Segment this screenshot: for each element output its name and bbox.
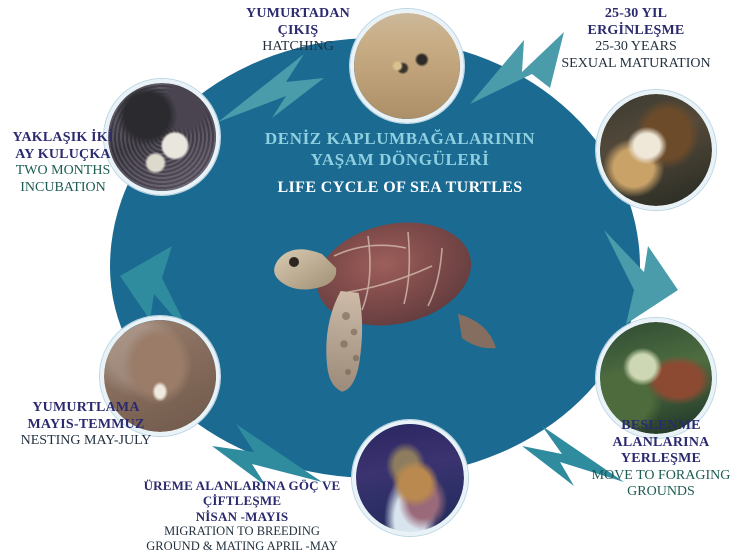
label-incubation: YAKLAŞIK İKİ AY KULUÇKA TWO MONTHS INCUB… [0,130,126,196]
label-hatching-en-1: HATCHING [232,39,364,56]
label-foraging-en-2: GROUNDS [572,484,750,501]
label-foraging-tr-2: YERLEŞME [572,451,750,468]
photo-hatchlings-on-sand [350,9,464,123]
photo-juvenile-turtle [596,90,716,210]
label-nesting: YUMURTLAMA MAYIS-TEMMUZ NESTING MAY-JULY [4,400,168,450]
label-migration-en-2: GROUND & MATING APRIL -MAY [104,539,380,550]
title-english: LIFE CYCLE OF SEA TURTLES [235,179,565,197]
photo-hatchlings-on-sand-image [354,13,460,119]
arrow-incubation-to-hatching [212,52,330,126]
label-foraging: BESLENME ALANLARINA YERLEŞME MOVE TO FOR… [572,418,750,501]
label-migration-en-1: MIGRATION TO BREEDING [104,524,380,539]
label-maturation-tr-1: 25-30 YIL [524,6,748,23]
life-cycle-infographic: DENİZ KAPLUMBAĞALARININ YAŞAM DÖNGÜLERİ … [0,0,750,550]
label-migration-mating: ÜREME ALANLARINA GÖÇ VE ÇİFTLEŞME NİSAN … [104,478,380,550]
label-nesting-tr-2: MAYIS-TEMMUZ [4,417,168,434]
photo-juvenile-turtle-image [600,94,712,206]
label-hatching-tr-2: ÇIKIŞ [232,23,364,40]
label-nesting-en-1: NESTING MAY-JULY [4,433,168,450]
label-incubation-tr-1: YAKLAŞIK İKİ [0,130,126,147]
label-maturation-en-1: 25-30 YEARS [524,39,748,56]
loggerhead-sea-turtle-swimming [262,196,502,436]
label-incubation-en-1: TWO MONTHS [0,163,126,180]
title-turkish-line-2: YAŞAM DÖNGÜLERİ [235,149,565,170]
label-hatching-tr-1: YUMURTADAN [232,6,364,23]
label-hatching: YUMURTADAN ÇIKIŞ HATCHING [232,6,364,56]
label-incubation-tr-2: AY KULUÇKA [0,147,126,164]
arrow-maturation-to-foraging [592,228,692,330]
label-nesting-tr-1: YUMURTLAMA [4,400,168,417]
label-foraging-tr-1: BESLENME ALANLARINA [572,418,750,451]
label-maturation: 25-30 YIL ERGİNLEŞME 25-30 YEARS SEXUAL … [524,6,748,72]
title-turkish-line-1: DENİZ KAPLUMBAĞALARININ [235,128,565,149]
label-migration-tr-2: NİSAN -MAYIS [104,509,380,524]
label-maturation-tr-2: ERGİNLEŞME [524,23,748,40]
label-incubation-en-2: INCUBATION [0,180,126,197]
label-migration-tr-1: ÜREME ALANLARINA GÖÇ VE ÇİFTLEŞME [104,478,380,509]
label-foraging-en-1: MOVE TO FORAGING [572,468,750,485]
poster-title: DENİZ KAPLUMBAĞALARININ YAŞAM DÖNGÜLERİ … [235,128,565,197]
label-maturation-en-2: SEXUAL MATURATION [524,56,748,73]
